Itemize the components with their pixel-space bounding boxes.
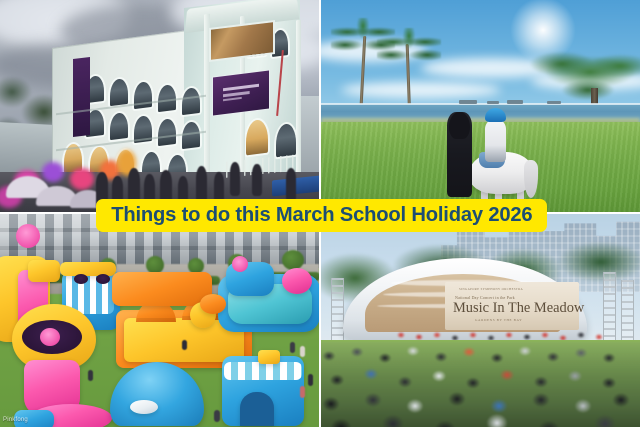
inflatable-orange-course bbox=[112, 272, 212, 306]
stage-backdrop-banner: SINGAPORE SYMPHONY ORCHESTRA National Da… bbox=[445, 282, 579, 330]
pilaster bbox=[204, 14, 210, 193]
cargo-ship bbox=[507, 100, 523, 104]
character-face bbox=[96, 274, 110, 284]
headline-banner: Things to do this March School Holiday 2… bbox=[96, 199, 547, 232]
visitor bbox=[214, 410, 220, 422]
backdrop-line-3: GARDENS BY THE BAY bbox=[475, 318, 522, 322]
person bbox=[230, 162, 240, 196]
lantern bbox=[70, 168, 94, 190]
arch-window bbox=[182, 87, 200, 115]
person bbox=[286, 168, 296, 202]
arch-window bbox=[110, 112, 128, 140]
panel-music-in-the-meadow-concert: SINGAPORE SYMPHONY ORCHESTRA National Da… bbox=[321, 214, 640, 427]
inflatable-ball bbox=[200, 294, 226, 314]
child-rider bbox=[485, 120, 506, 162]
visitor bbox=[300, 346, 305, 357]
visitor bbox=[308, 374, 313, 386]
exhibition-banner bbox=[213, 71, 269, 116]
character-face bbox=[74, 274, 88, 284]
headline-text: Things to do this March School Holiday 2… bbox=[111, 205, 532, 226]
tree bbox=[282, 250, 304, 270]
cargo-ship bbox=[459, 100, 477, 104]
peranakan-scene bbox=[0, 0, 319, 212]
lantern bbox=[42, 162, 64, 182]
inflatable-slide-top bbox=[60, 262, 116, 276]
visitor bbox=[290, 342, 295, 353]
pinkfong-character-topper bbox=[16, 224, 40, 248]
arch-window-tower bbox=[276, 123, 296, 157]
palm-crown bbox=[377, 28, 441, 68]
pinkfong-face bbox=[40, 328, 60, 346]
booth-awning bbox=[224, 362, 302, 380]
backdrop-line-1: SINGAPORE SYMPHONY ORCHESTRA bbox=[459, 287, 523, 291]
watermark-label: Pinkfong bbox=[3, 417, 28, 423]
person bbox=[252, 164, 262, 196]
vertical-banner bbox=[73, 57, 90, 137]
booth-sign bbox=[258, 350, 280, 364]
inflatable-sign-panel bbox=[28, 260, 60, 282]
handler-hair bbox=[449, 112, 470, 139]
riding-helmet bbox=[485, 108, 506, 122]
inflatable-park-scene: Pinkfong bbox=[0, 214, 319, 427]
panel-inflatable-bouncy-park: Pinkfong bbox=[0, 214, 319, 427]
concert-scene: SINGAPORE SYMPHONY ORCHESTRA National Da… bbox=[321, 214, 640, 427]
cargo-ship bbox=[547, 101, 561, 104]
visitor bbox=[182, 340, 187, 350]
photo-collage: Pinkfong SINGAPORE SYMPHONY ORCHESTRA Na… bbox=[0, 0, 640, 427]
cargo-ship bbox=[487, 101, 499, 104]
arch-window bbox=[110, 78, 128, 106]
inflatable-pink-character bbox=[282, 268, 312, 294]
pinkfong-character-topper bbox=[232, 256, 248, 272]
panel-peranakan-heritage-building bbox=[0, 0, 319, 212]
arch-window-tower bbox=[272, 29, 288, 57]
pony-ride-scene bbox=[321, 0, 640, 212]
audience-crowd bbox=[321, 342, 640, 427]
backdrop-title: Music In The Meadow bbox=[453, 301, 584, 316]
visitor bbox=[300, 386, 305, 398]
cloud bbox=[341, 82, 501, 98]
panel-pony-ride-seaside bbox=[321, 0, 640, 212]
booth-doorway bbox=[240, 392, 274, 426]
visitor bbox=[88, 370, 93, 381]
arch-window bbox=[158, 118, 176, 146]
horizon-line bbox=[321, 103, 640, 105]
dome-entrance bbox=[130, 400, 158, 414]
